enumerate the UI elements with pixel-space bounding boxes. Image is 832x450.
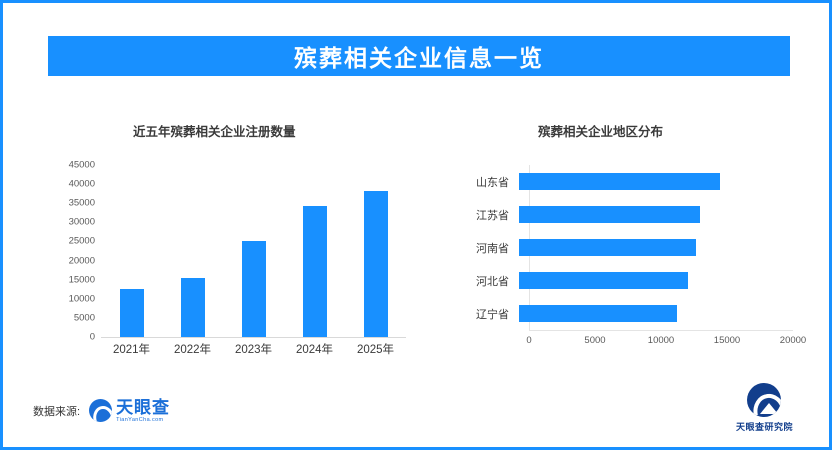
bar-series-registrations xyxy=(101,165,406,337)
x-tick-label: 0 xyxy=(526,335,531,346)
y-tick-label: 5000 xyxy=(74,312,95,323)
bar-2025年 xyxy=(364,191,388,337)
data-source: 数据来源: 天眼查 TianYanCha.com xyxy=(33,399,170,424)
bar-slot xyxy=(223,165,284,337)
bar-河北省 xyxy=(519,272,688,289)
bar-slot xyxy=(101,165,162,337)
x-axis-tick-labels: 05000100001500020000 xyxy=(529,335,793,351)
x-category-label: 2022年 xyxy=(162,341,223,357)
x-tick-label: 15000 xyxy=(714,335,740,346)
chart-title-registrations: 近五年殡葬相关企业注册数量 xyxy=(133,121,296,140)
y-tick-label: 35000 xyxy=(69,198,95,209)
tianyancha-wordmark: 天眼查 TianYanCha.com xyxy=(116,399,170,424)
tianyancha-name-en: TianYanCha.com xyxy=(116,418,170,424)
y-tick-label: 25000 xyxy=(69,236,95,247)
chart-panel-regions: 殡葬相关企业地区分布 山东省江苏省河南省河北省辽宁省 0500010000150… xyxy=(433,103,815,373)
y-tick-label: 40000 xyxy=(69,179,95,190)
bar-track xyxy=(519,264,793,297)
x-axis-category-labels: 2021年2022年2023年2024年2025年 xyxy=(101,341,406,357)
bar-辽宁省 xyxy=(519,305,677,322)
region-label: 山东省 xyxy=(463,174,519,190)
x-tick-label: 10000 xyxy=(648,335,674,346)
tianyancha-eye-icon xyxy=(89,399,112,422)
bar-series-regions: 山东省江苏省河南省河北省辽宁省 xyxy=(463,165,793,330)
bar-2021年 xyxy=(120,289,144,337)
tianyancha-name-cn: 天眼查 xyxy=(116,399,170,416)
bar-2024年 xyxy=(303,206,327,337)
bar-slot xyxy=(345,165,406,337)
x-category-label: 2025年 xyxy=(345,341,406,357)
y-axis-tick-labels: 0500010000150002000025000300003500040000… xyxy=(51,165,95,337)
x-category-label: 2024年 xyxy=(284,341,345,357)
x-axis-line xyxy=(529,330,793,331)
vertical-bar-chart: 0500010000150002000025000300003500040000… xyxy=(51,165,406,345)
region-label: 辽宁省 xyxy=(463,306,519,322)
bar-2022年 xyxy=(181,278,205,337)
institute-logo: 天眼查研究院 xyxy=(736,383,793,433)
region-row: 山东省 xyxy=(463,165,793,198)
data-source-label: 数据来源: xyxy=(33,403,80,419)
bar-2023年 xyxy=(242,241,266,337)
institute-name: 天眼查研究院 xyxy=(736,420,793,433)
bar-山东省 xyxy=(519,173,720,190)
y-tick-label: 0 xyxy=(90,332,95,343)
y-tick-label: 10000 xyxy=(69,293,95,304)
page-title: 殡葬相关企业信息一览 xyxy=(294,39,544,73)
x-tick-label: 20000 xyxy=(780,335,806,346)
bar-江苏省 xyxy=(519,206,700,223)
region-row: 河南省 xyxy=(463,231,793,264)
region-label: 江苏省 xyxy=(463,207,519,223)
x-category-label: 2023年 xyxy=(223,341,284,357)
institute-arch-icon xyxy=(747,383,781,417)
y-tick-label: 30000 xyxy=(69,217,95,228)
chart-panel-registrations: 近五年殡葬相关企业注册数量 05000100001500020000250003… xyxy=(23,103,423,373)
region-row: 江苏省 xyxy=(463,198,793,231)
bar-track xyxy=(519,165,793,198)
bar-slot xyxy=(284,165,345,337)
bar-track xyxy=(519,198,793,231)
bar-slot xyxy=(162,165,223,337)
plot-area-vertical xyxy=(101,165,406,338)
horizontal-bar-chart: 山东省江苏省河南省河北省辽宁省 05000100001500020000 xyxy=(463,165,793,355)
region-row: 河北省 xyxy=(463,264,793,297)
infographic-page: 殡葬相关企业信息一览 近五年殡葬相关企业注册数量 050001000015000… xyxy=(0,0,832,450)
x-tick-label: 5000 xyxy=(584,335,605,346)
title-banner: 殡葬相关企业信息一览 xyxy=(48,36,790,76)
bar-河南省 xyxy=(519,239,696,256)
tianyancha-logo: 天眼查 TianYanCha.com xyxy=(89,399,170,424)
region-row: 辽宁省 xyxy=(463,297,793,330)
y-tick-label: 45000 xyxy=(69,160,95,171)
region-label: 河南省 xyxy=(463,240,519,256)
region-label: 河北省 xyxy=(463,273,519,289)
chart-title-regions: 殡葬相关企业地区分布 xyxy=(538,121,663,140)
y-tick-label: 15000 xyxy=(69,274,95,285)
bar-track xyxy=(519,297,793,330)
bar-track xyxy=(519,231,793,264)
x-category-label: 2021年 xyxy=(101,341,162,357)
y-tick-label: 20000 xyxy=(69,255,95,266)
